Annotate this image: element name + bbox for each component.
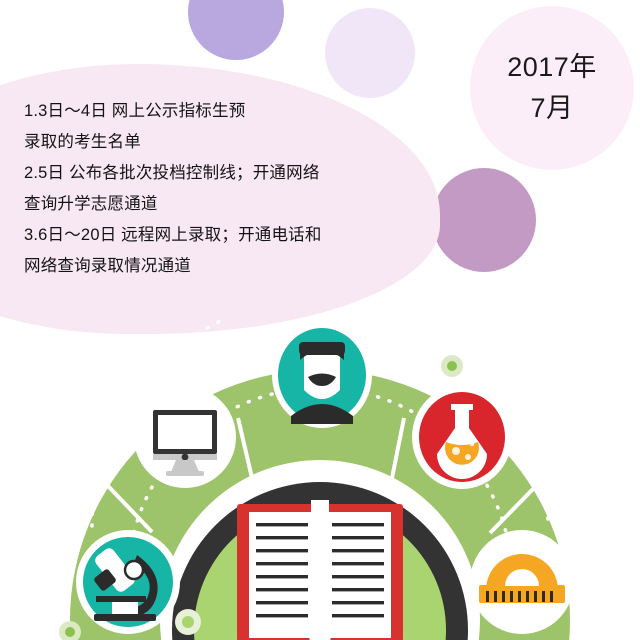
decorative-circle-periwinkle <box>188 0 284 60</box>
accent-dot-upper-right <box>441 355 463 377</box>
decorative-circle-mauve <box>432 168 536 272</box>
schedule-line: 录取的考生名单 <box>24 127 444 158</box>
protractor-icon <box>470 530 574 634</box>
date-badge-month: 7月 <box>530 95 573 122</box>
date-badge: 2017年 7月 <box>470 6 634 170</box>
monitor-icon <box>134 386 236 488</box>
schedule-line: 3.6日～20日 远程网上录取；开通电话和 <box>24 220 444 251</box>
teacher-icon <box>272 322 372 428</box>
date-badge-year: 2017年 <box>507 54 597 81</box>
schedule-text-block: 1.3日～4日 网上公示指标生预 录取的考生名单 2.5日 公布各批次投档控制线… <box>24 96 444 282</box>
schedule-line: 查询升学志愿通道 <box>24 189 444 220</box>
schedule-line: 2.5日 公布各批次投档控制线；开通网络 <box>24 158 444 189</box>
microscope-icon <box>76 530 180 634</box>
protractor-ticks <box>486 591 553 602</box>
education-icons-illustration <box>0 320 640 640</box>
schedule-line: 1.3日～4日 网上公示指标生预 <box>24 96 444 127</box>
flask-icon <box>412 385 512 489</box>
schedule-line: 网络查询录取情况通道 <box>24 251 444 282</box>
infographic-poster: 2017年 7月 1.3日～4日 网上公示指标生预 录取的考生名单 2.5日 公… <box>0 0 640 640</box>
open-book-icon <box>237 500 403 640</box>
accent-dot-bottom-center <box>175 609 201 635</box>
decorative-circle-pale-lilac <box>325 8 415 98</box>
